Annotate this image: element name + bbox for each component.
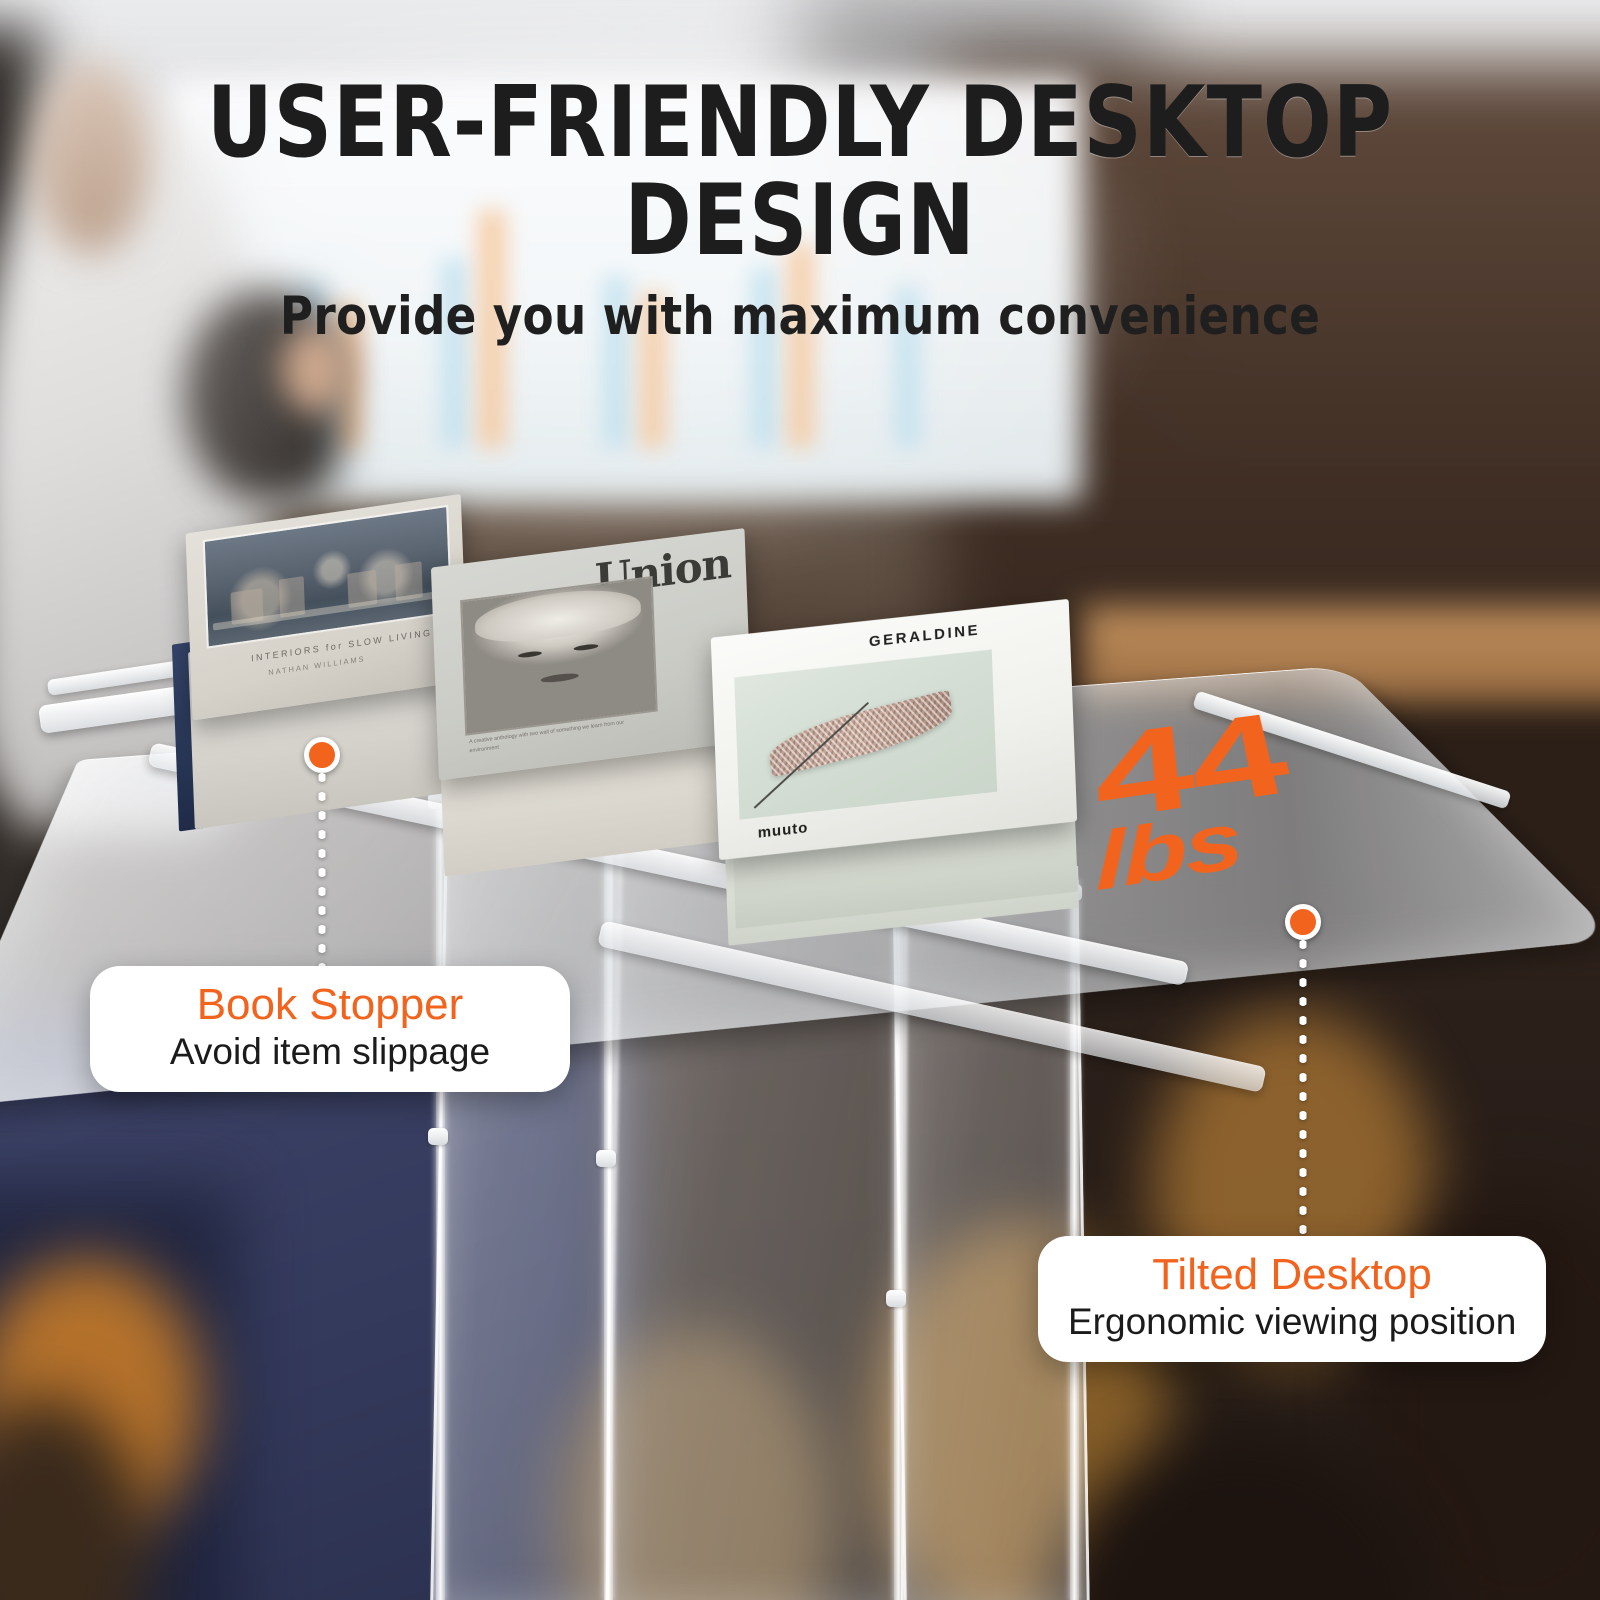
callout-subtitle: Ergonomic viewing position bbox=[1068, 1300, 1516, 1344]
book-cover-portrait bbox=[461, 576, 658, 736]
page-title: USER-FRIENDLY DESKTOP DESIGN bbox=[64, 74, 1536, 270]
callout-title: Book Stopper bbox=[120, 980, 540, 1029]
photo-interior-scene bbox=[204, 507, 450, 647]
brand-text: muuto bbox=[757, 819, 808, 842]
book-title-text: GERALDINE bbox=[869, 622, 981, 651]
book-cover: GERALDINE muuto bbox=[711, 599, 1077, 860]
photo-portrait bbox=[463, 578, 656, 734]
portrait-lips bbox=[541, 672, 579, 683]
book-cover-photo bbox=[202, 505, 452, 649]
book-cover: INTERIORS for SLOW LIVING NATHAN WILLIAM… bbox=[186, 494, 468, 721]
header-block: USER-FRIENDLY DESKTOP DESIGN Provide you… bbox=[0, 0, 1600, 343]
leader-line-book-stopper bbox=[319, 768, 326, 968]
leader-line-tilted-desktop bbox=[1300, 935, 1307, 1235]
callout-tilted-desktop[interactable]: Tilted Desktop Ergonomic viewing positio… bbox=[1038, 1236, 1546, 1362]
callout-title: Tilted Desktop bbox=[1068, 1250, 1516, 1299]
callout-subtitle: Avoid item slippage bbox=[120, 1030, 540, 1074]
book-cover-art bbox=[734, 650, 997, 820]
product-marketing-image: INTERIORS for SLOW LIVING NATHAN WILLIAM… bbox=[0, 0, 1600, 1600]
callout-book-stopper[interactable]: Book Stopper Avoid item slippage bbox=[90, 966, 570, 1092]
woven-object bbox=[765, 690, 955, 778]
portrait-hair bbox=[474, 582, 641, 648]
book-geraldine: GERALDINE muuto bbox=[711, 598, 1092, 969]
photo-mint bbox=[734, 650, 997, 820]
page-subtitle: Provide you with maximum convenience bbox=[40, 290, 1560, 343]
book-cover: Union A creative anthology with two wall… bbox=[431, 528, 753, 780]
